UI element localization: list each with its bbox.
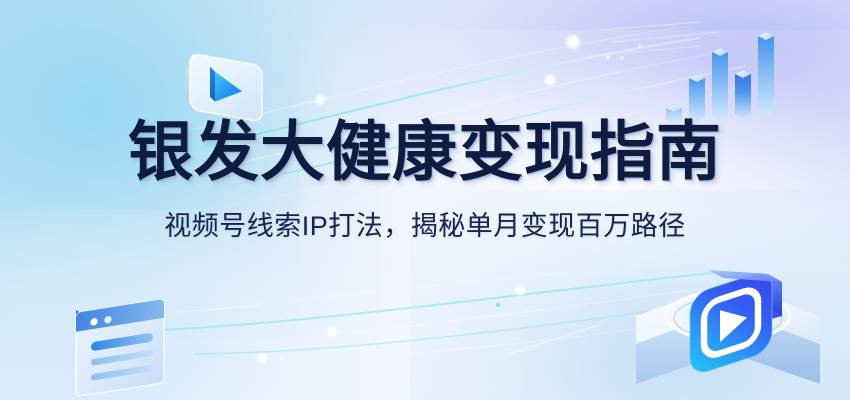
banner-text-block: 银发大健康变现指南 视频号线索IP打法，揭秘单月变现百万路径 [0, 118, 850, 243]
bar-4 [735, 70, 751, 118]
bar-3 [712, 48, 728, 120]
video-play-icon-3d [608, 262, 850, 400]
page-subtitle: 视频号线索IP打法，揭秘单月变现百万路径 [0, 204, 850, 243]
bar-5 [758, 32, 774, 116]
promo-banner: 银发大健康变现指南 视频号线索IP打法，揭秘单月变现百万路径 [0, 0, 850, 400]
page-title: 银发大健康变现指南 [0, 118, 850, 186]
browser-window-card [68, 288, 183, 400]
